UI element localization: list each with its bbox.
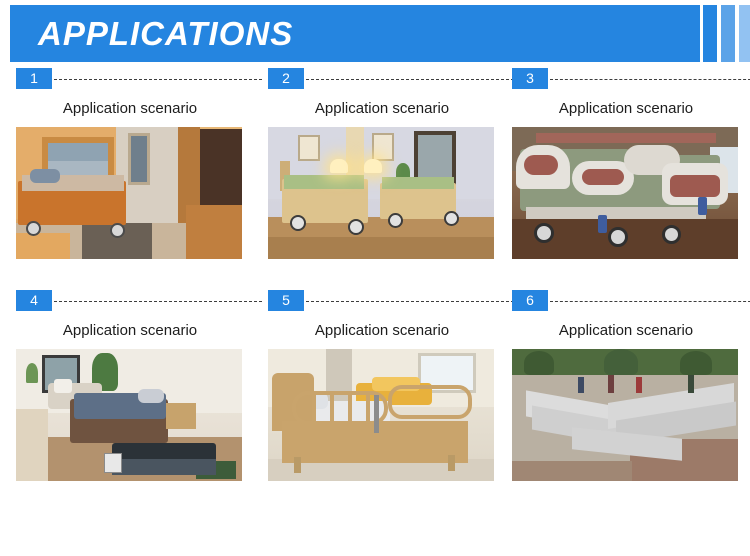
header-stripe-1 [703,5,717,62]
application-row: 1 Application scenario 2 Application sce… [0,68,750,290]
dashed-rule [550,301,750,302]
header-stripe-3 [739,5,750,62]
card-photo-wooden-nursing-bed-with-side-rails [268,349,494,481]
page-header: APPLICATIONS [0,0,750,68]
card-header: 5 [268,290,496,312]
application-row: 4 Application scenario 5 Application sce… [0,290,750,512]
application-card-3[interactable]: 3 Application scenario [512,68,740,259]
card-caption: Application scenario [16,99,244,119]
card-caption: Application scenario [512,99,740,119]
application-card-6[interactable]: 6 Application scenario [512,290,740,481]
card-number-badge: 3 [512,68,548,89]
card-photo-electric-hospital-beds-close-up [512,127,738,259]
card-header: 2 [268,68,496,90]
card-caption: Application scenario [512,321,740,341]
dashed-rule [54,301,262,302]
card-header: 1 [16,68,244,90]
card-caption: Application scenario [16,321,244,341]
card-caption: Application scenario [268,321,496,341]
card-header: 4 [16,290,244,312]
card-photo-two-wooden-nursing-beds-in-lit-room [268,127,494,259]
card-header: 3 [512,68,740,90]
card-number-badge: 6 [512,290,548,311]
card-number-badge: 4 [16,290,52,311]
dashed-rule [306,79,514,80]
card-photo-nursing-room-with-mirror-and-care-bed [16,127,242,259]
application-card-5[interactable]: 5 Application scenario [268,290,496,481]
card-caption: Application scenario [268,99,496,119]
card-number-badge: 1 [16,68,52,89]
card-photo-outdoor-stacked-bed-frames-in-yard [512,349,738,481]
dashed-rule [550,79,750,80]
application-card-2[interactable]: 2 Application scenario [268,68,496,259]
page-title: APPLICATIONS [38,13,293,55]
applications-grid: 1 Application scenario 2 Application sce… [0,68,750,512]
card-photo-modern-bedroom-with-nursing-mattress [16,349,242,481]
card-header: 6 [512,290,740,312]
header-stripe-2 [721,5,735,62]
application-card-1[interactable]: 1 Application scenario [16,68,244,259]
card-number-badge: 5 [268,290,304,311]
dashed-rule [54,79,262,80]
application-card-4[interactable]: 4 Application scenario [16,290,244,481]
dashed-rule [306,301,514,302]
card-number-badge: 2 [268,68,304,89]
